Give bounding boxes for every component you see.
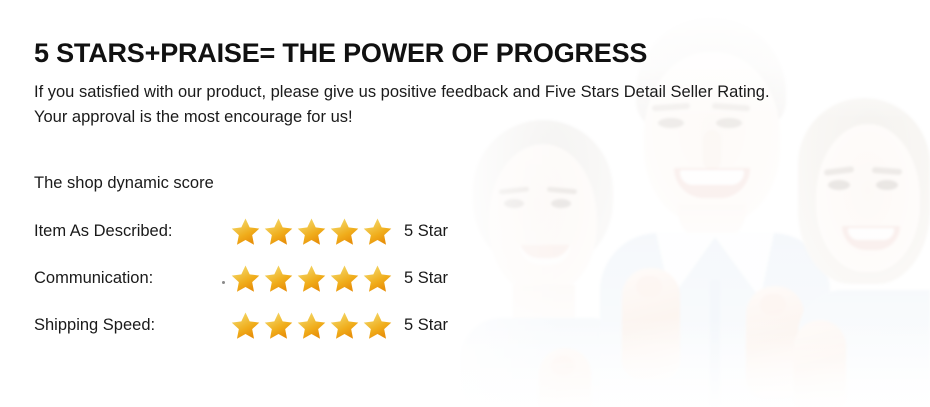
- shop-dynamic-score-caption: The shop dynamic score: [34, 174, 214, 193]
- banner-content: 5 STARS+PRAISE= THE POWER OF PROGRESS If…: [0, 0, 930, 407]
- star-rating-communication: [230, 263, 393, 294]
- star-icon: [296, 263, 327, 294]
- star-icon: [296, 310, 327, 341]
- star-icon: [230, 216, 261, 247]
- rating-row-communication: Communication: 5 Star: [34, 255, 448, 302]
- star-icon: [329, 263, 360, 294]
- star-icon: [329, 216, 360, 247]
- rating-rows: Item As Described: 5 Star Communication:: [34, 208, 448, 349]
- star-icon: [329, 310, 360, 341]
- rating-row-shipping-speed: Shipping Speed: 5 Star: [34, 302, 448, 349]
- subcopy-line-2: Your approval is the most encourage for …: [34, 105, 770, 130]
- seller-rating-banner: 5 STARS+PRAISE= THE POWER OF PROGRESS If…: [0, 0, 930, 407]
- star-icon: [362, 310, 393, 341]
- star-icon: [296, 216, 327, 247]
- rating-label: Item As Described:: [34, 222, 230, 241]
- rating-value: 5 Star: [404, 269, 448, 288]
- star-icon: [362, 216, 393, 247]
- rating-value: 5 Star: [404, 316, 448, 335]
- rating-row-item-as-described: Item As Described: 5 Star: [34, 208, 448, 255]
- star-rating-shipping-speed: [230, 310, 393, 341]
- star-icon: [362, 263, 393, 294]
- rating-value: 5 Star: [404, 222, 448, 241]
- star-icon: [263, 310, 294, 341]
- rating-label: Shipping Speed:: [34, 316, 230, 335]
- subcopy-line-1: If you satisfied with our product, pleas…: [34, 80, 770, 105]
- star-icon: [263, 263, 294, 294]
- rating-label: Communication:: [34, 269, 230, 288]
- star-icon: [230, 310, 261, 341]
- star-icon: [230, 263, 261, 294]
- star-rating-item-as-described: [230, 216, 393, 247]
- star-icon: [263, 216, 294, 247]
- banner-headline: 5 STARS+PRAISE= THE POWER OF PROGRESS: [34, 38, 647, 69]
- speck-artifact: [222, 281, 225, 284]
- banner-subcopy: If you satisfied with our product, pleas…: [34, 80, 770, 130]
